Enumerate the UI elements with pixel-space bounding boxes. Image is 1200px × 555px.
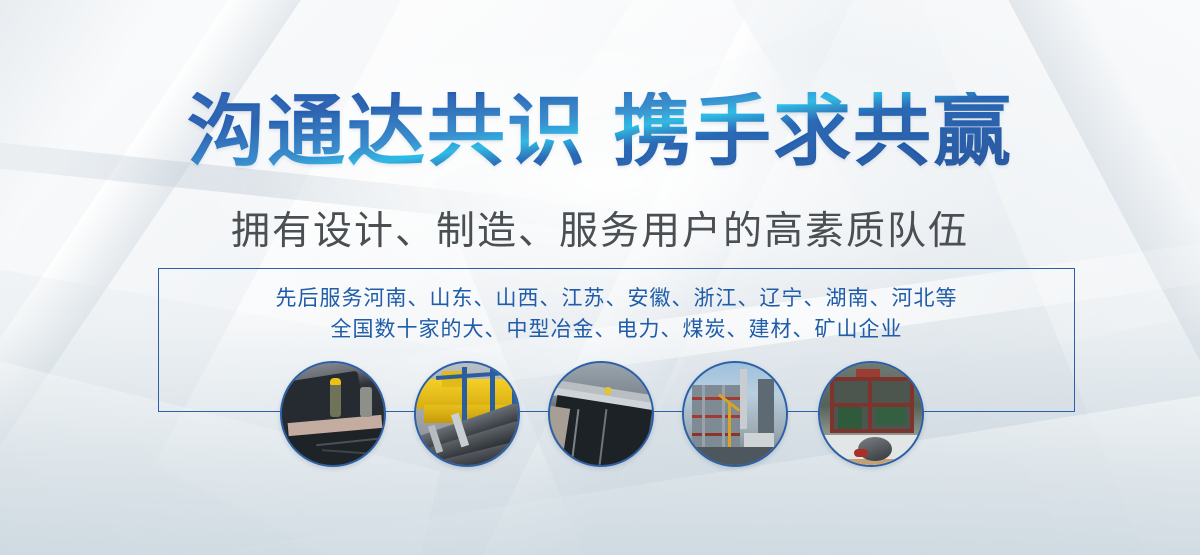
headline: 沟通达共识携手求共赢 [0, 92, 1200, 170]
photo-dark-structure-in-snow [548, 361, 654, 467]
photo-shape [838, 407, 862, 429]
photo-shape [740, 369, 747, 429]
photo-workshop-machine-part [818, 361, 924, 467]
photo-shape [692, 415, 740, 418]
photo-worker-on-steel-plate [280, 361, 386, 467]
photo-shape [462, 367, 467, 423]
headline-part-1: 沟通达共识 [187, 87, 587, 175]
photo-shape [876, 407, 906, 425]
headline-part-2: 携手求共赢 [613, 87, 1013, 175]
promotional-banner: 沟通达共识携手求共赢 拥有设计、制造、服务用户的高素质队伍 先后服务河南、山东、… [0, 0, 1200, 555]
photo-shape [692, 433, 740, 436]
photo-shape [702, 385, 705, 449]
photo-shape [330, 383, 341, 417]
photo-strip [280, 361, 926, 468]
subtitle: 拥有设计、制造、服务用户的高素质队伍 [0, 200, 1200, 256]
photo-shape [728, 403, 731, 447]
info-box-line-1: 先后服务河南、山东、山西、江苏、安徽、浙江、辽宁、湖南、河北等 [158, 283, 1075, 314]
photo-industrial-plant-steel-framework [682, 361, 788, 467]
photo-shape [360, 387, 372, 417]
info-box-text: 先后服务河南、山东、山西、江苏、安徽、浙江、辽宁、湖南、河北等 全国数十家的大、… [158, 283, 1075, 345]
photo-shape [604, 387, 612, 395]
photo-shape [330, 378, 341, 385]
photo-shape [684, 447, 788, 467]
photo-shape [854, 449, 868, 457]
photo-shape [830, 403, 914, 407]
photo-shape [758, 379, 774, 441]
photo-shape [692, 397, 740, 400]
photo-yellow-equipment-and-pipes [414, 361, 520, 467]
info-box-line-2: 全国数十家的大、中型冶金、电力、煤炭、建材、矿山企业 [158, 314, 1075, 345]
